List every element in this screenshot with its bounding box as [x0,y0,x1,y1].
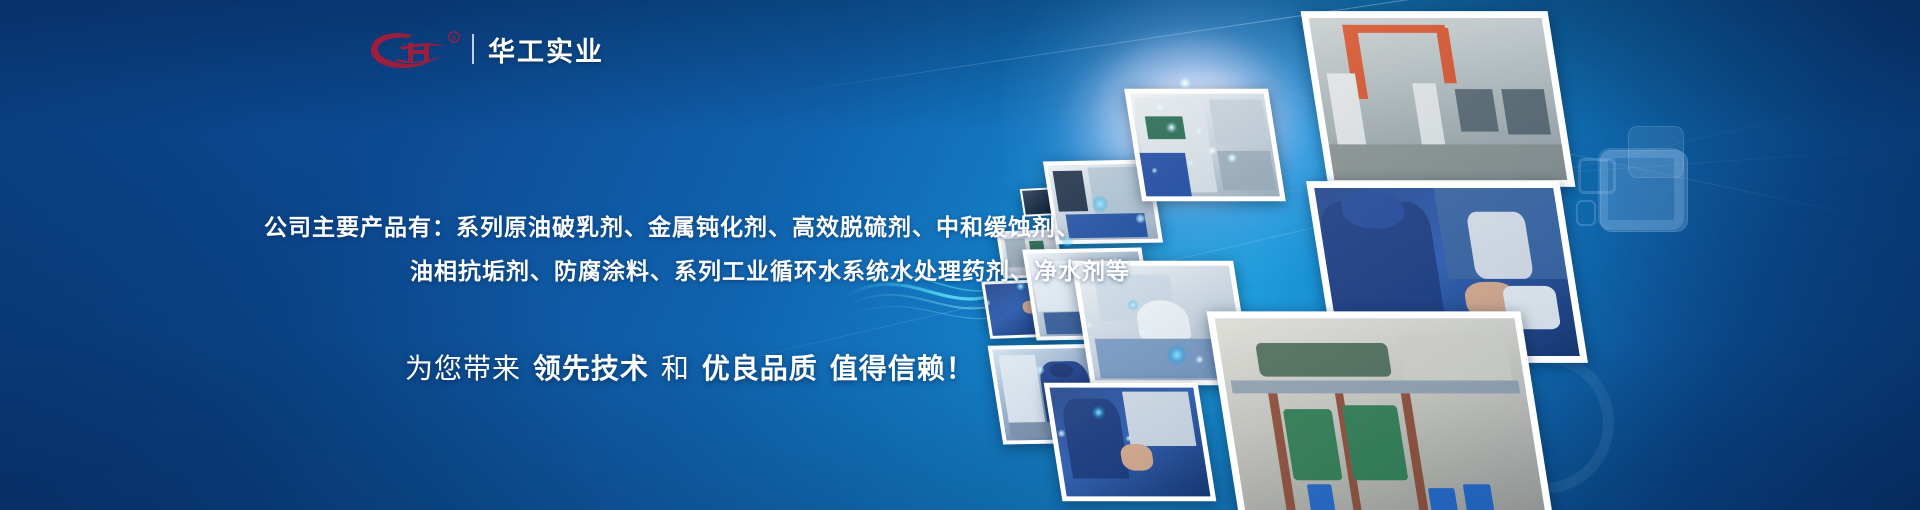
ch-monogram-icon: R [366,28,458,70]
tagline-part-1: 为您带来 [405,352,521,385]
tagline-part-2: 领先技术 [533,352,649,385]
tagline-part-4: 优良品质 [702,352,818,385]
photo-collage [1060,0,1620,442]
company-name: 华工实业 [488,30,604,69]
tagline-part-3: 和 [661,352,690,385]
photo-assembly-line-2[interactable] [1044,383,1217,502]
svg-text:R: R [452,34,457,42]
photo-factory-hall[interactable] [1301,11,1576,187]
product-line-1: 公司主要产品有：系列原油破乳剂、金属钝化剂、高效脱硫剂、中和缓蚀剂、 [264,208,1080,242]
company-hero-banner: R 华工实业 公司主要产品有：系列原油破乳剂、金属钝化剂、高效脱硫剂、中和缓蚀剂… [0,0,1920,510]
tagline-part-5: 值得信赖！ [830,352,975,385]
logo-divider [472,34,474,64]
decorative-square-faint [1628,126,1684,178]
tagline: 为您带来 领先技术 和 优良品质 值得信赖！ [404,347,976,387]
photo-chemical-plant[interactable] [1207,311,1556,510]
company-logo[interactable]: R 华工实业 [366,28,604,70]
photo-operator-panel[interactable] [1124,89,1286,202]
product-line-2: 油相抗垢剂、防腐涂料、系列工业循环水系统水处理药剂、净水剂等 [410,252,1130,286]
